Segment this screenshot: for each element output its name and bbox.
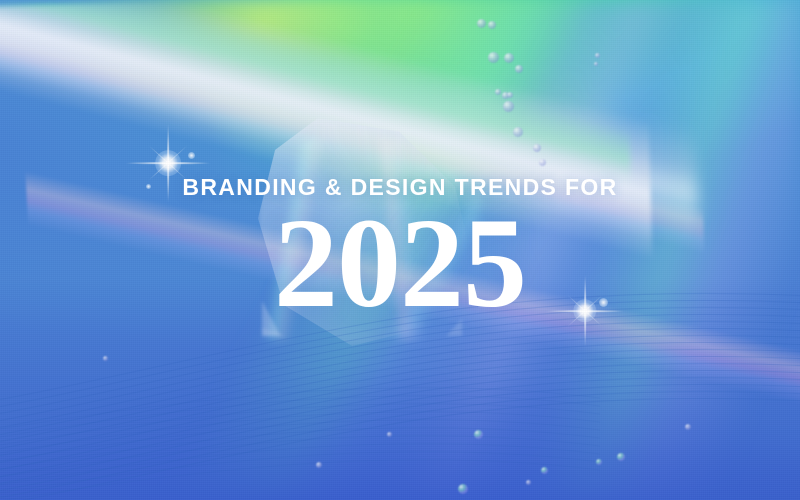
poster-canvas: BRANDING & DESIGN TRENDS FOR 2025 [0, 0, 800, 500]
poster-text-block: BRANDING & DESIGN TRENDS FOR 2025 [0, 0, 800, 500]
year-display: 2025 [274, 205, 526, 323]
